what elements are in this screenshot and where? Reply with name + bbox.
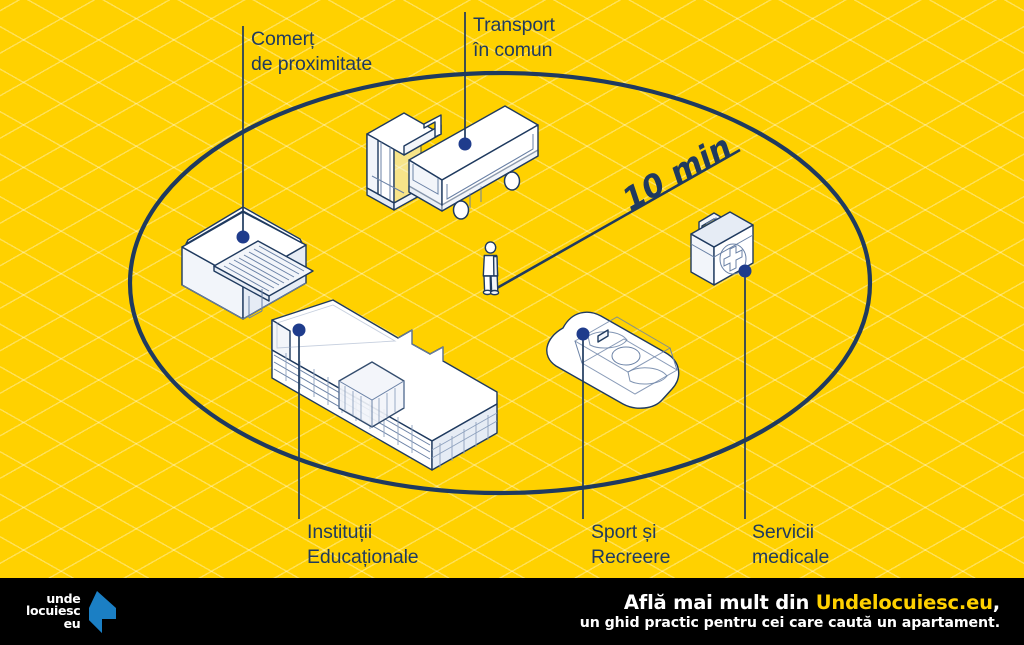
logo-wordmark: unde locuiesc eu — [26, 593, 80, 630]
callout-label-sport: Sport șiRecreere — [591, 520, 670, 570]
sports-court-icon — [547, 312, 679, 408]
callout-label-transport: Transportîn comun — [473, 13, 555, 63]
marker-dot-comert — [237, 231, 250, 244]
footer-headline-suffix: , — [993, 591, 1000, 614]
footer-brand-link[interactable]: Undelocuiesc.eu — [816, 591, 993, 614]
infographic-scene: .ink { stroke:#1F3A5F; fill:none; stroke… — [0, 0, 1024, 580]
callout-label-medical: Serviciimedicale — [752, 520, 829, 570]
footer-headline: Află mai mult din Undelocuiesc.eu, — [580, 591, 1000, 614]
pedestrian-figure — [483, 242, 498, 295]
school-building-icon — [272, 300, 497, 470]
callout-label-educatie: InstituțiiEducaționale — [307, 520, 419, 570]
brand-logo[interactable]: unde locuiesc eu — [26, 588, 118, 636]
radius-duration-label: 10 min — [616, 128, 737, 218]
marker-dot-transport — [459, 138, 472, 151]
footer-subline: un ghid practic pentru cei care caută un… — [580, 614, 1000, 632]
callout-label-comert: Comerțde proximitate — [251, 27, 372, 77]
footer-bar: unde locuiesc eu Află mai mult din Undel… — [0, 578, 1024, 645]
svg-text:10 min: 10 min — [616, 128, 737, 218]
footer-copy: Află mai mult din Undelocuiesc.eu, un gh… — [580, 591, 1000, 632]
marker-dot-educatie — [293, 324, 306, 337]
infographic-canvas: .ink { stroke:#1F3A5F; fill:none; stroke… — [0, 0, 1024, 645]
marker-dot-medical — [739, 265, 752, 278]
footer-headline-prefix: Află mai mult din — [624, 591, 816, 614]
marker-dot-sport — [577, 328, 590, 341]
house-pin-icon — [76, 589, 118, 635]
shop-building-icon — [182, 207, 313, 319]
